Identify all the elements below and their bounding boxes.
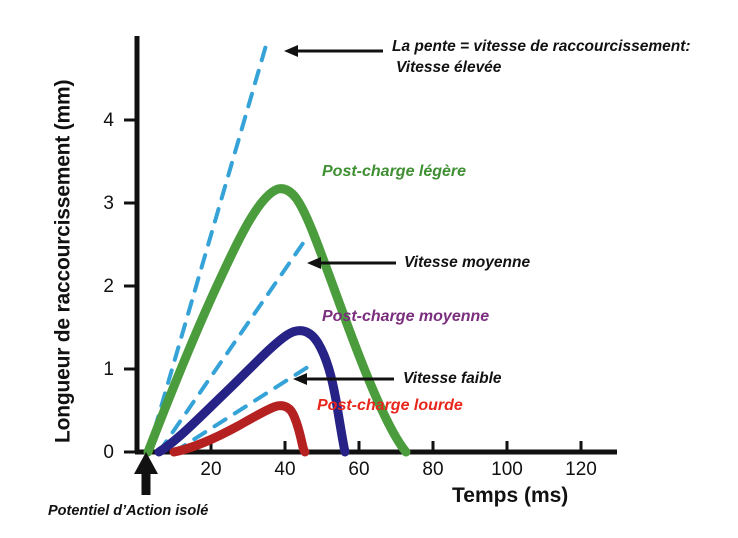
arrow-vitesse-elevee [284, 45, 383, 57]
annotation-vitesse-elevee-line1: La pente = vitesse de raccourcissement: [392, 38, 691, 56]
x-tick-label-100: 100 [487, 459, 527, 481]
x-tick-label-40: 40 [265, 459, 305, 481]
annotation-vitesse-moyenne: Vitesse moyenne [404, 254, 530, 272]
curve-label-post-charge-legere: Post-charge légère [322, 163, 466, 182]
y-tick-label-3: 3 [92, 193, 114, 215]
annotation-vitesse-elevee-line2: Vitesse élevée [396, 59, 501, 77]
y-tick-label-4: 4 [92, 110, 114, 132]
y-tick-label-0: 0 [92, 442, 114, 464]
y-tick-label-2: 2 [92, 276, 114, 298]
x-tick-label-120: 120 [561, 459, 601, 481]
tangent-vitesse-moyenne [159, 236, 308, 452]
y-axis-title: Longueur de raccourcissement (mm) [52, 51, 77, 471]
y-tick-label-1: 1 [92, 359, 114, 381]
stimulus-arrow-icon [134, 452, 158, 495]
tangent-vitesse-elevee [148, 42, 267, 452]
x-tick-label-20: 20 [191, 459, 231, 481]
curve-label-post-charge-lourde: Post-charge lourde [317, 397, 463, 416]
x-tick-label-80: 80 [413, 459, 453, 481]
x-tick-label-60: 60 [339, 459, 379, 481]
annotation-vitesse-faible: Vitesse faible [403, 370, 502, 388]
x-axis-title: Temps (ms) [452, 484, 568, 509]
arrow-vitesse-moyenne [307, 257, 396, 269]
curve-label-post-charge-moyenne: Post-charge moyenne [322, 308, 489, 327]
stimulus-caption: Potentiel d’Action isolé [48, 503, 208, 520]
figure-container: Longueur de raccourcissement (mm) Temps … [0, 0, 738, 538]
arrow-vitesse-faible [293, 373, 394, 385]
